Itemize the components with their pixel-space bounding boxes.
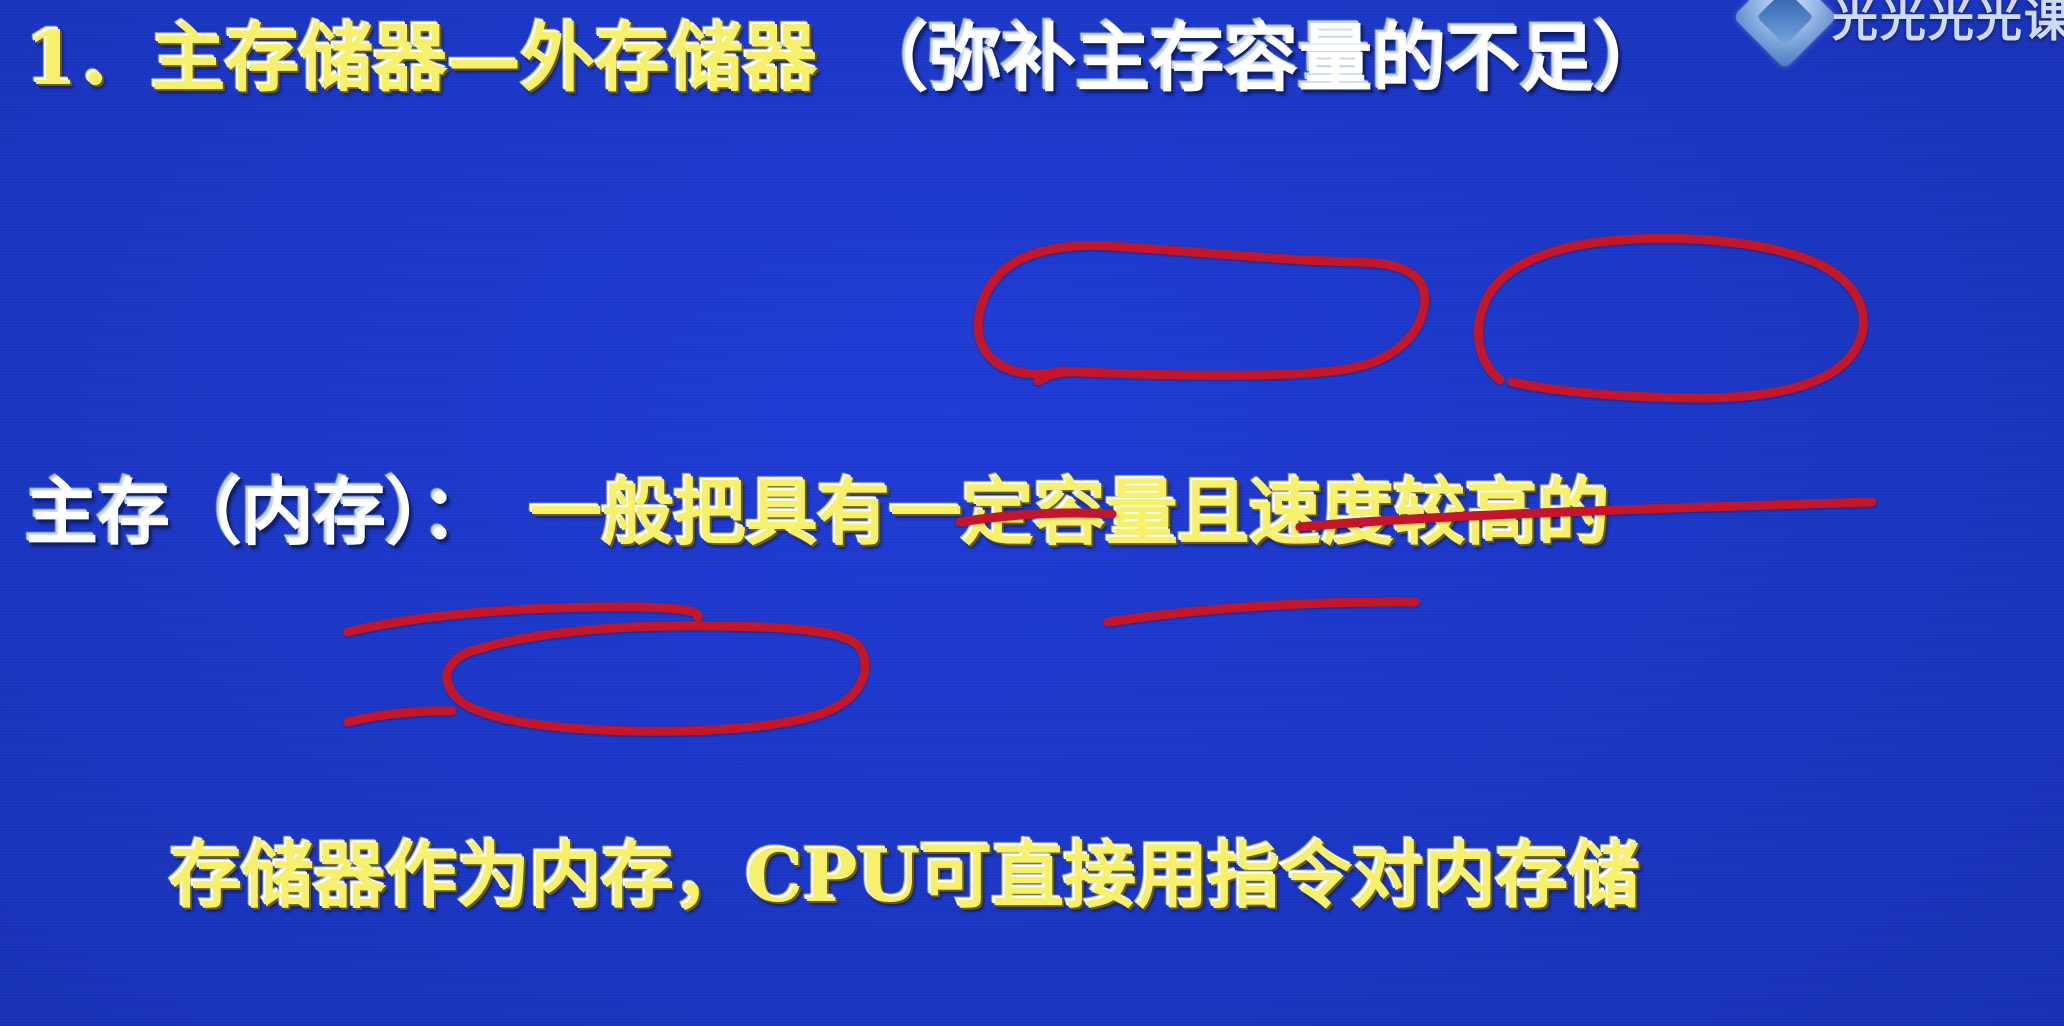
slide-title: 1．主存储器—外存储器 （弥补主存容量的不足）	[26, 22, 1669, 96]
title-number: 1．	[26, 16, 152, 102]
line1-yellow: 一般把具有一定容量且速度较高的	[530, 470, 1610, 555]
title-gap	[818, 16, 892, 102]
line2-yellow: 存储器作为内存，	[170, 833, 746, 918]
line1-white-lead: 主存（内存）：	[26, 470, 530, 555]
line2-yellow-rest: 可直接用指令对内存储	[920, 833, 1640, 918]
slide-body: 主存（内存）： 一般把具有一定容量且速度较高的 存储器作为内存，CPU可直接用指…	[26, 196, 1646, 1026]
presentation-slide: 光光光光课 1．主存储器—外存储器 （弥补主存容量的不足） 主存（内存）： 一般…	[0, 0, 2064, 1026]
line2-indent	[26, 833, 170, 918]
body-line-2: 存储器作为内存，CPU可直接用指令对内存储	[26, 831, 1646, 922]
watermark: 光光光光课	[1748, 0, 2064, 54]
watermark-label: 光光光光课	[1832, 0, 2064, 50]
body-line-1: 主存（内存）： 一般把具有一定容量且速度较高的	[26, 468, 1646, 559]
title-main: 主存储器—外存储器	[152, 16, 818, 102]
line2-cpu-term: CPU	[746, 833, 920, 918]
diamond-logo-icon	[1733, 0, 1838, 69]
title-note: （弥补主存容量的不足）	[892, 16, 1669, 102]
